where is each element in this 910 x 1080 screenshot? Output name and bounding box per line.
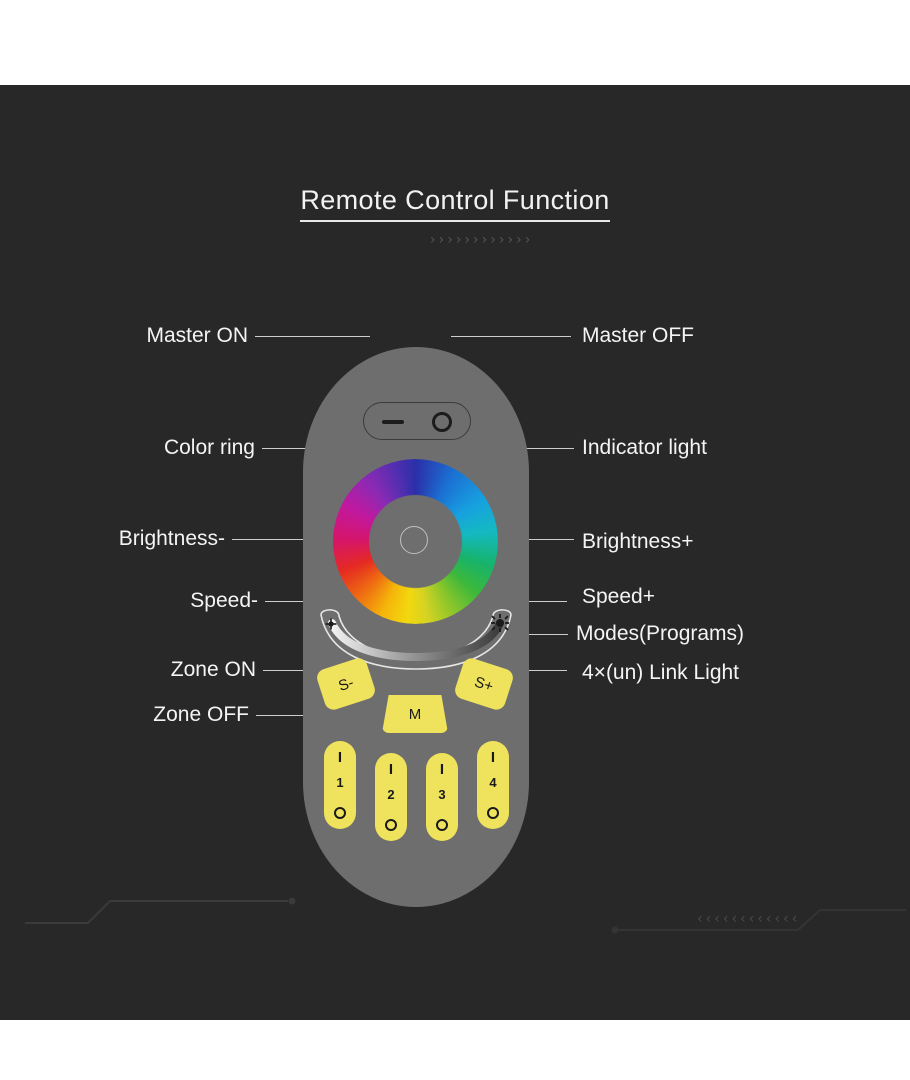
- zone-on-label[interactable]: I: [426, 761, 458, 778]
- zone-number: 1: [324, 775, 356, 790]
- zone-off-icon[interactable]: [385, 819, 397, 831]
- zone-off-icon[interactable]: [487, 807, 499, 819]
- mode-label: M: [409, 706, 422, 723]
- callout-link-light: 4×(un) Link Light: [582, 661, 739, 685]
- decor-trace-right: [610, 890, 910, 960]
- callout-brightness-minus: Brightness-: [0, 527, 225, 551]
- callout-speed-minus: Speed-: [0, 589, 258, 613]
- callout-zone-off: Zone OFF: [0, 703, 249, 727]
- callout-color-ring: Color ring: [0, 436, 255, 460]
- zone-on-label[interactable]: I: [477, 749, 509, 766]
- chevron-right-icon: ›: [499, 233, 505, 247]
- callout-master-off: Master OFF: [582, 324, 694, 348]
- zone-number: 4: [477, 775, 509, 790]
- indicator-light: [400, 526, 428, 554]
- chevron-right-icon: ›: [490, 233, 496, 247]
- page-root: › › › › › › › › › › › › Remote Control F…: [0, 0, 910, 1080]
- leader-master-on: [255, 336, 370, 337]
- zone-button-4[interactable]: I 4: [477, 741, 509, 829]
- chevron-right-icon: ›: [439, 233, 445, 247]
- zone-on-label[interactable]: I: [324, 749, 356, 766]
- chevron-right-icon: ›: [456, 233, 462, 247]
- remote-control-body: S- M S+ I 1 I 2 I 3: [303, 347, 529, 907]
- callout-indicator-light: Indicator light: [582, 436, 707, 460]
- callout-speed-plus: Speed+: [582, 585, 655, 609]
- zone-number: 3: [426, 787, 458, 802]
- dark-panel: › › › › › › › › › › › › Remote Control F…: [0, 85, 910, 1020]
- mode-button[interactable]: M: [382, 695, 448, 733]
- speed-plus-label: S+: [472, 673, 495, 695]
- callout-master-on: Master ON: [0, 324, 248, 348]
- master-on-dash-icon[interactable]: [382, 420, 404, 424]
- zone-button-3[interactable]: I 3: [426, 753, 458, 841]
- page-title: Remote Control Function: [300, 185, 609, 222]
- zone-off-icon[interactable]: [436, 819, 448, 831]
- zone-button-2[interactable]: I 2: [375, 753, 407, 841]
- callout-modes: Modes(Programs): [576, 622, 744, 646]
- master-off-circle-icon[interactable]: [432, 412, 452, 432]
- zone-off-icon[interactable]: [334, 807, 346, 819]
- callout-brightness-plus: Brightness+: [582, 530, 693, 554]
- decor-trace-left: [0, 875, 300, 945]
- chevron-right-icon: ›: [473, 233, 479, 247]
- large-sun-icon: [491, 614, 509, 632]
- chevron-right-icon: ›: [464, 233, 470, 247]
- leader-master-off: [451, 336, 571, 337]
- master-power-button[interactable]: [363, 402, 471, 440]
- page-title-wrap: Remote Control Function: [0, 185, 910, 222]
- chevron-right-icon: ›: [447, 233, 453, 247]
- zone-number: 2: [375, 787, 407, 802]
- callout-zone-on: Zone ON: [0, 658, 256, 682]
- chevron-right-icon: ›: [482, 233, 488, 247]
- chevron-right-icon: ›: [507, 233, 513, 247]
- chevron-right-icon: ›: [430, 233, 436, 247]
- zone-button-1[interactable]: I 1: [324, 741, 356, 829]
- zone-on-label[interactable]: I: [375, 761, 407, 778]
- chevron-right-icon: ›: [516, 233, 522, 247]
- decor-chevrons-top: › › › › › › › › › › › ›: [430, 233, 530, 247]
- chevron-right-icon: ›: [525, 233, 531, 247]
- speed-minus-label: S-: [336, 674, 356, 695]
